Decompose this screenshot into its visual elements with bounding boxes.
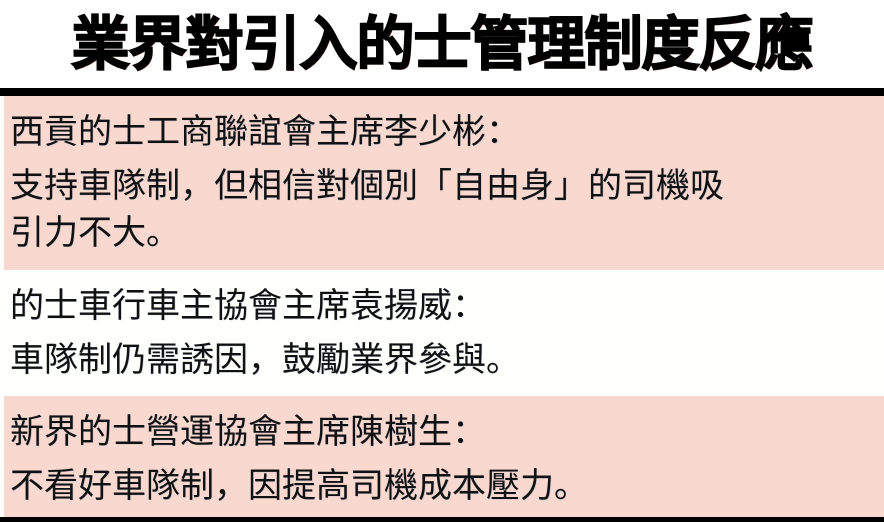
footer-divider-rule [0,517,884,522]
quote-text-line: 引力不大。 [10,210,876,257]
quote-speaker: 的士車行車主協會主席袁揚威： [10,283,876,330]
quote-block-list: 西貢的士工商聯誼會主席李少彬： 支持車隊制，但相信對個別「自由身」的司機吸 引力… [0,96,884,522]
page-title: 業界對引入的士管理制度反應 [71,13,812,75]
quote-text-line: 車隊制仍需誘因，鼓勵業界參與。 [10,337,876,384]
quote-block: 的士車行車主協會主席袁揚威： 車隊制仍需誘因，鼓勵業界參與。 [0,270,884,396]
quote-block: 西貢的士工商聯誼會主席李少彬： 支持車隊制，但相信對個別「自由身」的司機吸 引力… [0,96,884,270]
quote-speaker: 新界的士營運協會主席陳樹生： [10,409,876,456]
taxi-fleet-reaction-infographic: 業界對引入的士管理制度反應 西貢的士工商聯誼會主席李少彬： 支持車隊制，但相信對… [0,0,884,522]
quote-speaker: 西貢的士工商聯誼會主席李少彬： [10,109,876,156]
quote-text-line: 不看好車隊制，因提高司機成本壓力。 [10,463,876,510]
quote-block: 新界的士營運協會主席陳樹生： 不看好車隊制，因提高司機成本壓力。 [0,396,884,522]
headline-banner: 業界對引入的士管理制度反應 [0,0,884,88]
header-divider-rule [0,88,884,96]
quote-text-line: 支持車隊制，但相信對個別「自由身」的司機吸 [10,163,876,210]
